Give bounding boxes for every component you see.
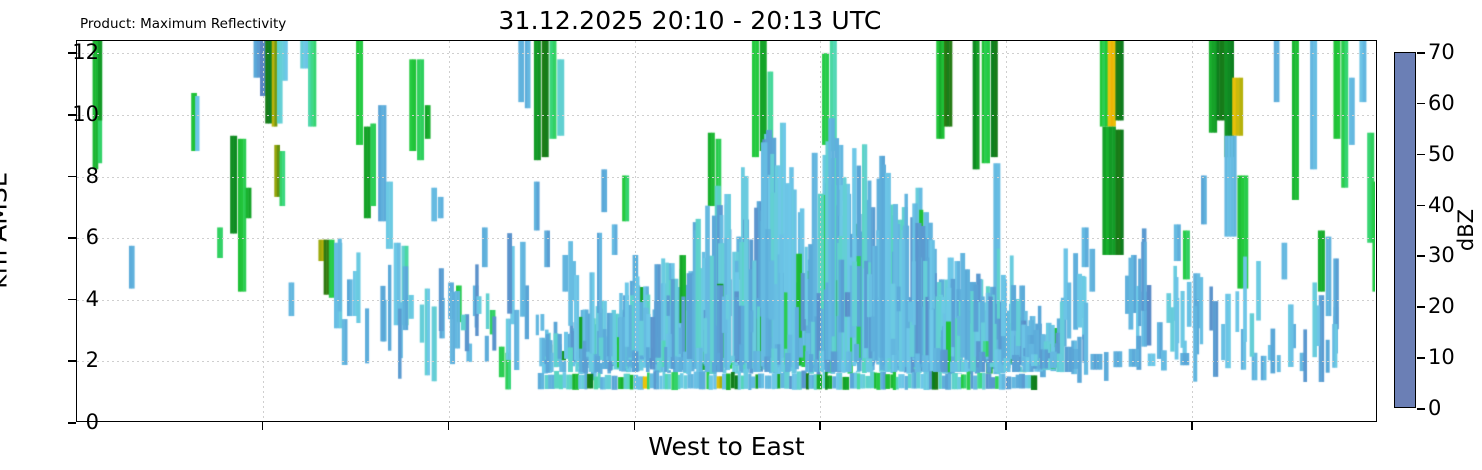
y-axis-tick-label: 12 [72, 40, 99, 64]
colorbar-tick-label: 0 [1428, 396, 1441, 420]
colorbar-tick-label: 50 [1428, 142, 1455, 166]
y-axis-tick-mark [68, 52, 76, 54]
colorbar-tick-label: 70 [1428, 40, 1455, 64]
colorbar-tick-label: 10 [1428, 345, 1455, 369]
x-axis-tick-mark [1005, 422, 1007, 430]
product-label: Product: Maximum Reflectivity [80, 16, 286, 32]
y-axis-tick-mark [68, 422, 76, 424]
reflectivity-canvas [77, 41, 1375, 420]
y-axis-tick-label: 4 [86, 287, 99, 311]
radar-cross-section-plot [76, 40, 1377, 422]
y-axis-tick-mark [68, 299, 76, 301]
colorbar-tick-mark [1417, 357, 1425, 359]
colorbar-tick-mark [1417, 154, 1425, 156]
colorbar [1394, 52, 1416, 408]
x-axis-tick-mark [634, 422, 636, 430]
colorbar-title: dBZ [1454, 209, 1478, 251]
y-axis-tick-label: 8 [86, 164, 99, 188]
y-axis-tick-label: 6 [86, 225, 99, 249]
y-axis-tick-label: 2 [86, 348, 99, 372]
colorbar-tick-mark [1417, 52, 1425, 54]
colorbar-tick-mark [1417, 205, 1425, 207]
colorbar-tick-label: 60 [1428, 91, 1455, 115]
colorbar-tick-mark [1417, 306, 1425, 308]
y-axis-tick-mark [68, 237, 76, 239]
colorbar-tick-mark [1417, 103, 1425, 105]
x-axis-tick-mark [448, 422, 450, 430]
colorbar-tick-mark [1417, 255, 1425, 257]
colorbar-tick-mark [1417, 408, 1425, 410]
y-axis-tick-label: 10 [72, 102, 99, 126]
x-axis-tick-mark [1191, 422, 1193, 430]
x-axis-tick-mark [819, 422, 821, 430]
plot-canvas-wrap [77, 41, 1376, 421]
colorbar-tick-label: 40 [1428, 193, 1455, 217]
colorbar-tick-label: 30 [1428, 243, 1455, 267]
y-axis-tick-mark [68, 360, 76, 362]
y-axis-tick-label: 0 [86, 410, 99, 434]
x-axis-tick-mark [262, 422, 264, 430]
y-axis-tick-mark [68, 176, 76, 178]
y-axis-tick-mark [68, 114, 76, 116]
y-axis-label: km AMSL [0, 173, 13, 288]
x-axis-label: West to East [76, 432, 1377, 461]
colorbar-tick-label: 20 [1428, 294, 1455, 318]
